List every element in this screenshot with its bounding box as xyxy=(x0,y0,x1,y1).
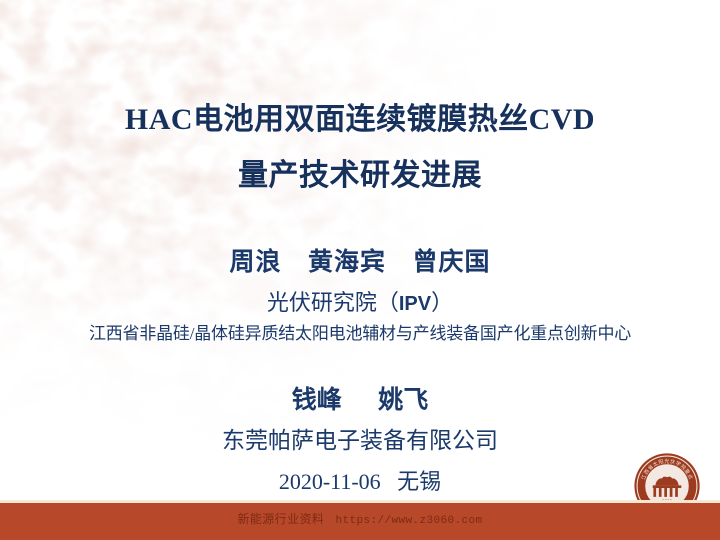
watermark: 新能源行业资料 https://www.z3060.com xyxy=(0,510,720,527)
company-block: 钱峰 姚飞 东莞帕萨电子装备有限公司 2020-11-06 无锡 xyxy=(0,384,720,500)
affiliation-acronym: IPV xyxy=(399,293,431,315)
title-block: HAC电池用双面连续镀膜热丝CVD 量产技术研发进展 xyxy=(0,92,720,204)
author-names: 周浪 黄海宾 曾庆国 xyxy=(0,246,720,280)
author-name-3: 曾庆国 xyxy=(413,249,491,276)
affiliation-prefix: 光伏研究院（ xyxy=(267,290,399,315)
title-line-2: 量产技术研发进展 xyxy=(0,148,720,204)
company-name: 东莞帕萨电子装备有限公司 xyxy=(0,422,720,460)
company-author-names: 钱峰 姚飞 xyxy=(0,384,720,418)
watermark-label: 新能源行业资料 xyxy=(237,512,324,526)
watermark-url[interactable]: https://www.z3060.com xyxy=(335,515,482,527)
presentation-date: 2020-11-06 xyxy=(279,469,381,494)
company-author-1: 钱峰 xyxy=(292,387,342,414)
author-name-2: 黄海宾 xyxy=(308,249,386,276)
authors-block: 周浪 黄海宾 曾庆国 光伏研究院（IPV） 江西省非晶硅/晶体硅异质结太阳电池辅… xyxy=(0,246,720,347)
affiliation-center: 江西省非晶硅/晶体硅异质结太阳电池辅材与产线装备国产化重点创新中心 xyxy=(0,321,720,347)
title-line-1: HAC电池用双面连续镀膜热丝CVD xyxy=(0,92,720,148)
author-name-1: 周浪 xyxy=(229,249,281,276)
date-venue: 2020-11-06 无锡 xyxy=(0,464,720,500)
affiliation-institute: 光伏研究院（IPV） xyxy=(0,286,720,321)
title-slide: HAC电池用双面连续镀膜热丝CVD 量产技术研发进展 周浪 黄海宾 曾庆国 光伏… xyxy=(0,0,720,540)
company-author-2: 姚飞 xyxy=(378,387,428,414)
presentation-venue: 无锡 xyxy=(397,469,441,494)
affiliation-suffix: ） xyxy=(431,290,453,315)
